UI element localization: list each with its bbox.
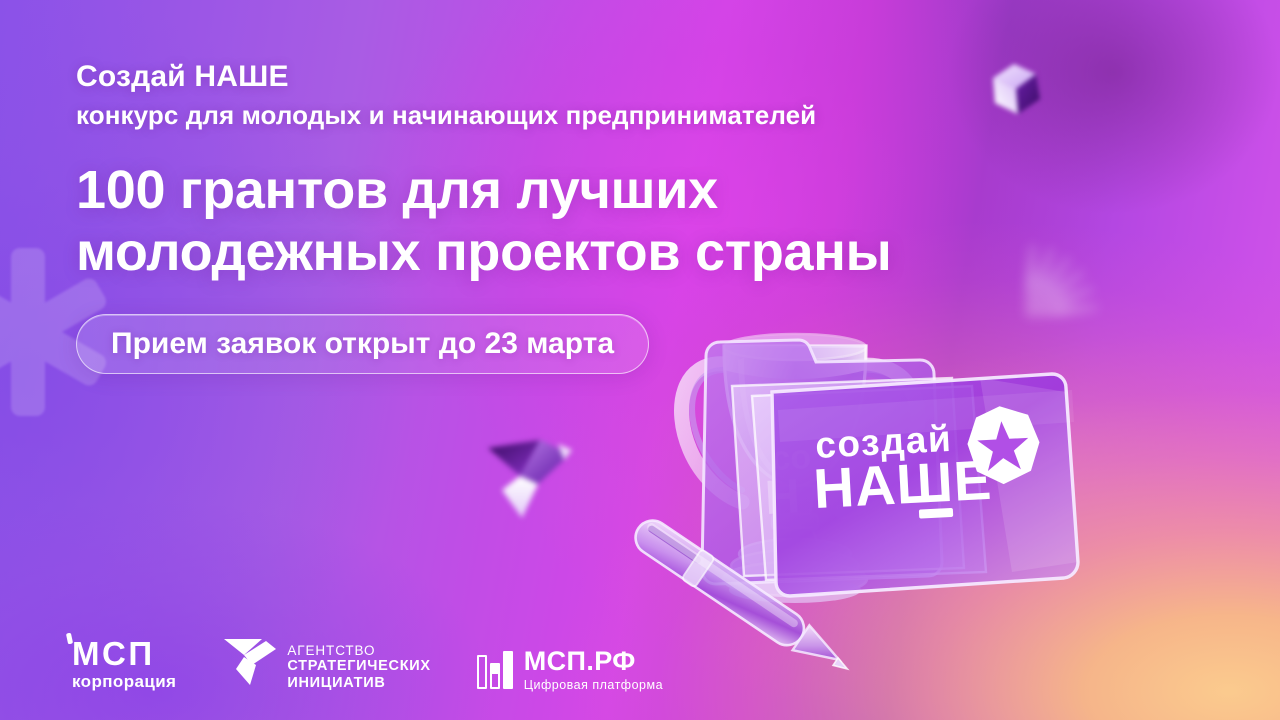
triangle-shape (478, 432, 578, 528)
folder-icon: со Н создай НАШЕ (702, 340, 1078, 596)
asi-mark-icon (222, 635, 278, 692)
partner-logos: МСП корпорация АГЕНТСТВО СТРАТЕГИЧЕСКИХ … (72, 635, 663, 692)
logo-msp-rf[interactable]: МСП.РФ Цифровая платформа (477, 648, 663, 692)
asi-line-1: АГЕНТСТВО (287, 643, 430, 658)
cube-shape (988, 58, 1046, 120)
promo-banner: со Н создай НАШЕ (0, 0, 1280, 720)
msp-wordmark: МСП (72, 635, 155, 672)
cta-deadline-pill[interactable]: Прием заявок открыт до 23 марта (76, 314, 649, 374)
logo-msp-corporation[interactable]: МСП корпорация (72, 638, 176, 692)
eyebrow-title: Создай НАШЕ (76, 60, 976, 94)
eyebrow-subtitle: конкурс для молодых и начинающих предпри… (76, 100, 976, 131)
page-title: 100 грантов для лучших молодежных проект… (76, 159, 976, 284)
folder-logo-line2: НАШЕ (812, 448, 994, 520)
asi-line-2: СТРАТЕГИЧЕСКИХ (287, 658, 430, 674)
copy-block: Создай НАШЕ конкурс для молодых и начина… (76, 60, 976, 374)
msp-subtitle: корпорация (72, 672, 176, 692)
msp-rf-subtitle: Цифровая платформа (524, 678, 663, 692)
msp-rf-wordmark: МСП.РФ (524, 648, 663, 675)
headline-line-2: молодежных проектов страны (76, 221, 976, 284)
msp-rf-bars-icon (477, 651, 513, 689)
asi-line-3: ИНИЦИАТИВ (287, 675, 430, 691)
logo-asi[interactable]: АГЕНТСТВО СТРАТЕГИЧЕСКИХ ИНИЦИАТИВ (222, 635, 430, 692)
headline-line-1: 100 грантов для лучших (76, 159, 976, 222)
